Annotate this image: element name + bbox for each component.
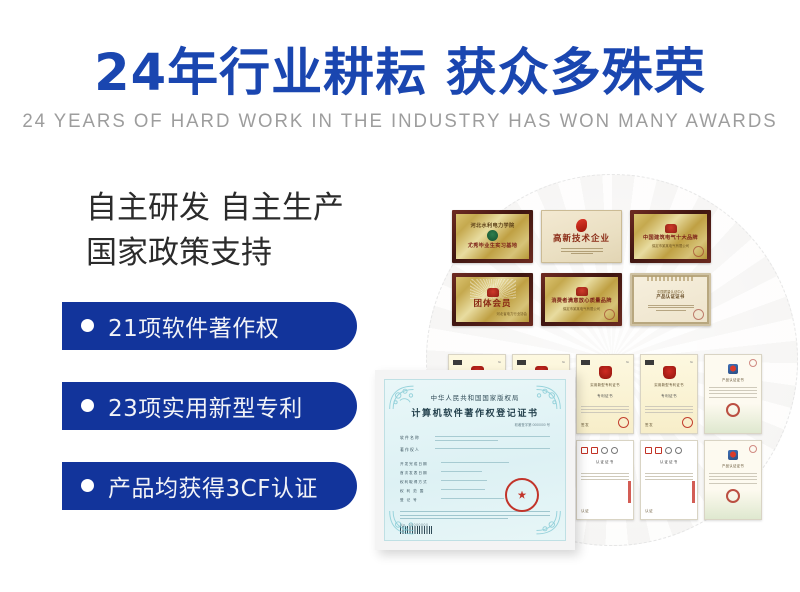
- ccc-logo-icon: [645, 447, 652, 454]
- row-label: 权 利 范 围: [400, 489, 436, 494]
- official-seal-icon: [505, 478, 539, 512]
- side-bar-accent: [692, 481, 695, 503]
- plaque-3-title: 中国建筑电气十大品牌: [643, 235, 698, 242]
- national-seal-icon: [663, 366, 676, 379]
- plaque-5[interactable]: 消费者满意放心质量品牌 保定市某某电气有限公司: [541, 273, 622, 326]
- page-subtitle: 24 YEARS OF HARD WORK IN THE INDUSTRY HA…: [8, 111, 792, 133]
- side-bar-accent: [628, 481, 631, 503]
- ce-certificate-title: 认证证书: [645, 460, 693, 465]
- signature: 认证: [645, 509, 653, 514]
- certificate-number: 软著登字第 0000000 号: [400, 422, 550, 427]
- plaque-2-title: 高新技术企业: [553, 234, 610, 246]
- product-certificate-title: 产品认证证书: [709, 377, 757, 382]
- patent-certificate[interactable]: № 实用新型专利证书 专利证书 签发: [640, 354, 698, 434]
- product-certificate[interactable]: 产品认证证书: [704, 440, 762, 520]
- tagline-line-2: 国家政策支持: [86, 231, 420, 276]
- plaque-3-subtitle: 保定市某某电气有限公司: [652, 244, 689, 249]
- row-value: [441, 462, 550, 467]
- badge-icon: [581, 360, 590, 365]
- ring-icon: [749, 445, 757, 453]
- national-seal-icon: [599, 366, 612, 379]
- field-value-copyright-owner: [435, 448, 550, 452]
- page-title: 24年行业耕耘 获众多殊荣: [0, 46, 800, 102]
- patent-certificate-name: 专利证书: [645, 394, 693, 399]
- plaque-2-issuers: [561, 248, 603, 254]
- patent-certificate-name: 专利证书: [581, 394, 629, 399]
- ccc-logo-icon: [581, 447, 588, 454]
- row-label: 权利取得方式: [400, 480, 436, 485]
- promo-page: 24年行业耕耘 获众多殊荣 24 YEARS OF HARD WORK IN T…: [0, 0, 800, 592]
- school-emblem-icon: [487, 230, 498, 241]
- stamp-icon: [682, 417, 693, 428]
- national-emblem-icon: [665, 224, 677, 233]
- highlight-banner-1-label: 21项软件著作权: [108, 309, 279, 343]
- cert-number: №: [562, 360, 565, 364]
- highlight-banner-1[interactable]: 21项软件著作权: [62, 302, 357, 350]
- certification-logo-icon: [728, 364, 738, 374]
- cert-number: №: [498, 360, 501, 364]
- patent-certificate-title: 实用新型专利证书: [645, 382, 693, 387]
- highlight-banner-3-label: 产品均获得3CF认证: [108, 469, 318, 503]
- field-label-software-name: 软件名称: [400, 436, 430, 441]
- row-value: [441, 471, 550, 476]
- highlight-banner-2-label: 23项实用新型专利: [108, 389, 303, 423]
- highlight-banner-3[interactable]: 产品均获得3CF认证: [62, 462, 357, 510]
- bullet-dot-icon: [81, 479, 94, 492]
- left-column: 自主研发 自主生产 国家政策支持 21项软件著作权 23项实用新型专利 产品均获…: [0, 186, 420, 542]
- page-header: 24年行业耕耘 获众多殊荣 24 YEARS OF HARD WORK IN T…: [0, 46, 800, 133]
- product-certificate[interactable]: 产品认证证书: [704, 354, 762, 434]
- plaque-6-lines: [648, 305, 694, 311]
- patent-certificate-title: 实用新型专利证书: [581, 382, 629, 387]
- ce-logo-icon: [591, 447, 598, 454]
- corner-ornament-icon: [388, 383, 422, 413]
- plaque-5-subtitle: 保定市某某电气有限公司: [563, 307, 600, 312]
- badge-icon: [517, 360, 526, 365]
- ring-icon: [749, 359, 757, 367]
- plaque-4-subtitle: 河北省电力行业协会: [496, 312, 527, 317]
- quality-logo-icon: [675, 447, 682, 454]
- iso-logo-icon: [665, 447, 672, 454]
- row-label: 首次发表日期: [400, 471, 436, 476]
- flame-emblem-icon: [576, 219, 587, 232]
- badge-icon: [453, 360, 462, 365]
- association-emblem-icon: [487, 288, 499, 297]
- plaque-6-title: 产品认证证书: [656, 295, 684, 301]
- row-label: 开发完成日期: [400, 462, 436, 467]
- signature: 签发: [645, 423, 653, 428]
- signature: 认证: [581, 509, 589, 514]
- certificate-footer-number: No. 00000000: [400, 523, 429, 527]
- software-copyright-certificate[interactable]: 中华人民共和国国家版权局 计算机软件著作权登记证书 软著登字第 0000000 …: [375, 370, 575, 550]
- field-value-software-name: [435, 436, 550, 443]
- signature: 签发: [581, 423, 589, 428]
- round-stamp-icon: [726, 403, 740, 417]
- ce-certificate[interactable]: 认证证书 认证: [576, 440, 634, 520]
- plaque-6[interactable]: 中国质量认证中心 产品认证证书: [630, 273, 711, 326]
- bullet-dot-icon: [81, 319, 94, 332]
- cert-number: №: [626, 360, 629, 364]
- plaque-4-title: 团体会员: [473, 299, 511, 311]
- plaque-grid: 河北水利电力学院 尤秀毕业生实习基地 高新技术企业: [452, 210, 711, 326]
- plaque-5-title: 消费者满意放心质量品牌: [551, 298, 611, 305]
- ce-certificate-title: 认证证书: [581, 460, 629, 465]
- plaque-1-subtitle: 尤秀毕业生实习基地: [468, 243, 517, 250]
- patent-certificate[interactable]: № 实用新型专利证书 专利证书 签发: [576, 354, 634, 434]
- tagline-line-1: 自主研发 自主生产: [86, 186, 420, 231]
- quality-logo-icon: [611, 447, 618, 454]
- row-label: 登 记 号: [400, 498, 436, 503]
- highlight-banner-list: 21项软件著作权 23项实用新型专利 产品均获得3CF认证: [0, 302, 420, 510]
- ce-certificate[interactable]: 认证证书 认证: [640, 440, 698, 520]
- round-stamp-icon: [726, 489, 740, 503]
- cert-number: №: [690, 360, 693, 364]
- plaque-1-title: 河北水利电力学院: [471, 223, 515, 230]
- certificate-fields: 软件名称 著作权人: [400, 436, 550, 453]
- field-label-copyright-owner: 著作权人: [400, 448, 430, 453]
- national-emblem-icon: [576, 287, 588, 296]
- plaque-2[interactable]: 高新技术企业: [541, 210, 622, 263]
- corner-ornament-icon: [388, 507, 422, 537]
- corner-ornament-icon: [528, 507, 562, 537]
- certification-logo-icon: [728, 450, 738, 460]
- highlight-banner-2[interactable]: 23项实用新型专利: [62, 382, 357, 430]
- product-certificate-title: 产品认证证书: [709, 463, 757, 468]
- ce-logo-icon: [655, 447, 662, 454]
- iso-logo-icon: [601, 447, 608, 454]
- stamp-icon: [618, 417, 629, 428]
- awards-collage: 河北水利电力学院 尤秀毕业生实习基地 高新技术企业: [400, 160, 800, 592]
- badge-icon: [645, 360, 654, 365]
- bullet-dot-icon: [81, 399, 94, 412]
- plaque-3[interactable]: 中国建筑电气十大品牌 保定市某某电气有限公司: [630, 210, 711, 263]
- tagline: 自主研发 自主生产 国家政策支持: [86, 186, 420, 276]
- plaque-1[interactable]: 河北水利电力学院 尤秀毕业生实习基地: [452, 210, 533, 263]
- corner-ornament-icon: [528, 383, 562, 413]
- plaque-4[interactable]: 团体会员 河北省电力行业协会: [452, 273, 533, 326]
